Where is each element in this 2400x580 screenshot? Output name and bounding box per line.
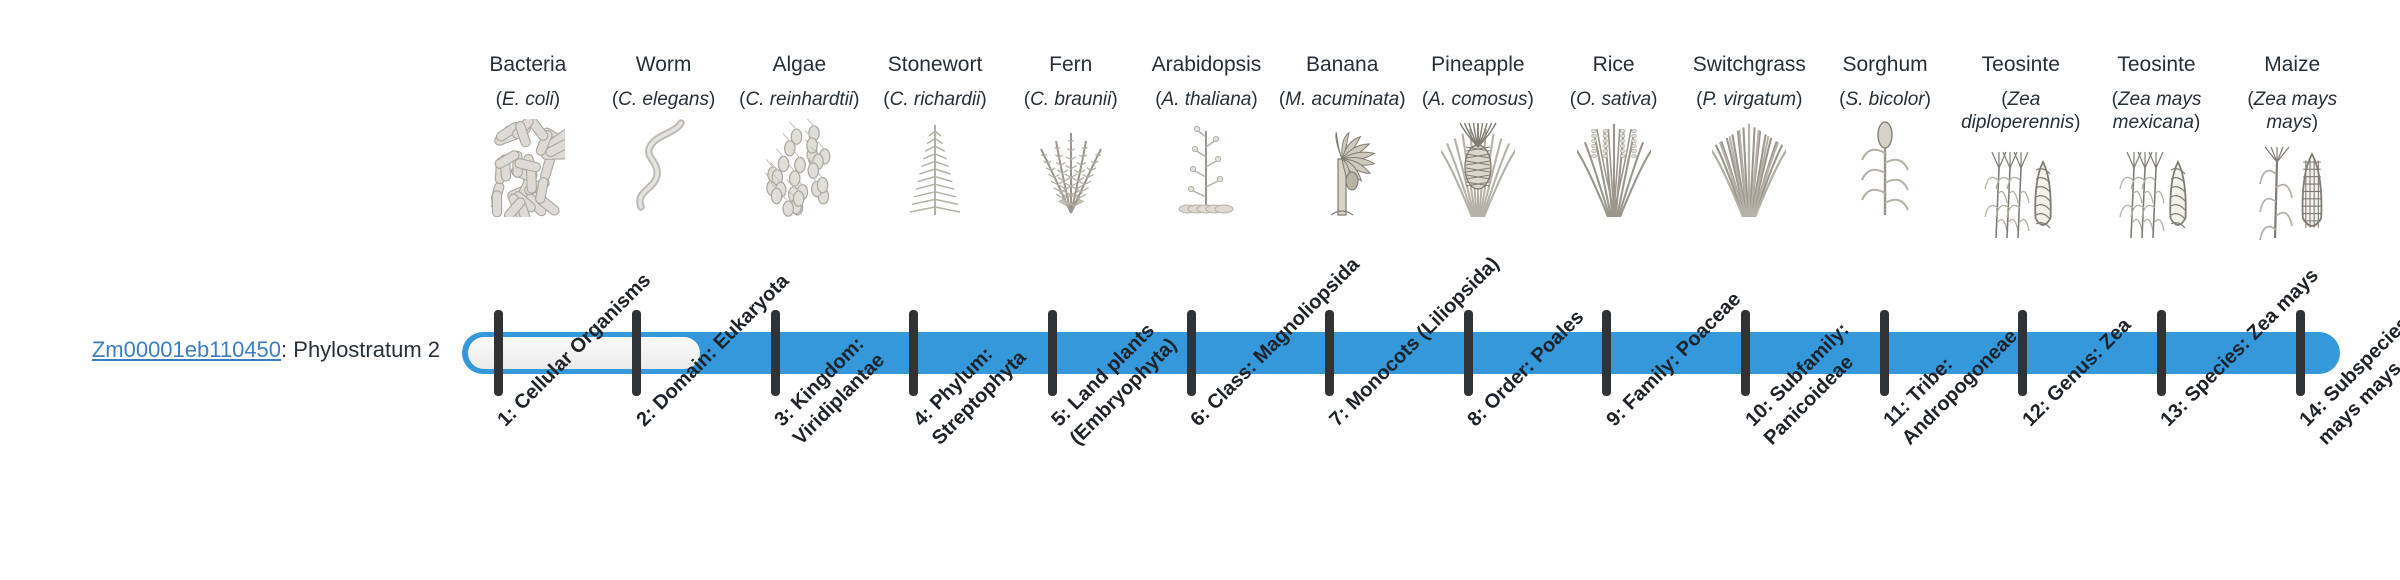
phylostratum-tick-8[interactable]: [1464, 310, 1473, 396]
species-latin-text: P. virgatum: [1703, 89, 1797, 110]
species-common-name: Arabidopsis: [1152, 52, 1262, 78]
species-column-maize-13: Maize(Zea mays mays): [2224, 52, 2360, 240]
maize-icon: [2224, 140, 2360, 240]
species-common-name: Stonewort: [888, 52, 983, 78]
species-latin-text: Zea mays mays: [2254, 89, 2337, 133]
phylostratum-tick-10[interactable]: [1741, 310, 1750, 396]
phylostratum-tick-12[interactable]: [2018, 310, 2027, 396]
species-column-fern-4: Fern(C. braunii): [1003, 52, 1139, 217]
species-column-worm-1: Worm(C. elegans): [596, 52, 732, 217]
sorghum-icon: [1817, 117, 1953, 217]
species-common-name: Bacteria: [489, 52, 566, 78]
stonewort-icon: [867, 117, 1003, 217]
species-latin-name: (P. virgatum): [1694, 88, 1804, 111]
species-header-strip: Bacteria(E. coli)Worm(C. elegans)Algae(C…: [460, 52, 2360, 302]
species-latin-name: (Zea mays mexicana): [2089, 88, 2225, 134]
phylostratum-tick-2[interactable]: [632, 310, 641, 396]
species-latin-text: E. coli: [502, 89, 554, 110]
phylostratum-tick-3[interactable]: [771, 310, 780, 396]
species-latin-name: (O. sativa): [1568, 88, 1660, 111]
species-latin-name: (Zea diploperennis): [1953, 88, 2089, 134]
species-latin-text: M. acuminata: [1285, 89, 1399, 110]
teosinte-mexicana-icon: [2089, 140, 2225, 240]
species-common-name: Rice: [1593, 52, 1635, 78]
species-latin-text: Zea mays mexicana: [2113, 89, 2202, 133]
species-column-teosinte-11: Teosinte(Zea diploperennis): [1953, 52, 2089, 240]
rice-icon: [1546, 117, 1682, 217]
species-latin-text: S. bicolor: [1845, 89, 1924, 110]
species-latin-name: (S. bicolor): [1837, 88, 1933, 111]
switchgrass-icon: [1681, 117, 1817, 217]
phylostratigraphy-figure: Zm00001eb110450: Phylostratum 2 Bacteria…: [0, 0, 2400, 580]
species-column-arabidopsis-5: Arabidopsis(A. thaliana): [1139, 52, 1275, 217]
species-column-stonewort-3: Stonewort(C. richardii): [867, 52, 1003, 217]
species-latin-text: A. thaliana: [1162, 89, 1252, 110]
arabidopsis-icon: [1139, 117, 1275, 217]
species-column-algae-2: Algae(C. reinhardtii): [731, 52, 867, 217]
species-latin-text: C. elegans: [618, 89, 709, 110]
species-common-name: Algae: [772, 52, 826, 78]
species-latin-text: C. braunii: [1030, 89, 1111, 110]
fern-icon: [1003, 117, 1139, 217]
species-latin-name: (C. richardii): [881, 88, 988, 111]
species-latin-text: O. sativa: [1576, 89, 1651, 110]
species-column-pineapple-7: Pineapple(A. comosus): [1410, 52, 1546, 217]
algae-icon: [731, 117, 867, 217]
species-column-teosinte-12: Teosinte(Zea mays mexicana): [2089, 52, 2225, 240]
species-latin-name: (C. braunii): [1022, 88, 1120, 111]
teosinte-diploperennis-icon: [1953, 140, 2089, 240]
species-common-name: Pineapple: [1431, 52, 1524, 78]
species-common-name: Teosinte: [2117, 52, 2195, 78]
phylostratum-tick-1[interactable]: [494, 310, 503, 396]
species-latin-name: (Zea mays mays): [2224, 88, 2360, 134]
species-common-name: Maize: [2264, 52, 2320, 78]
phylostratum-tick-5[interactable]: [1048, 310, 1057, 396]
species-latin-text: C. reinhardtii: [745, 89, 853, 110]
phylostratum-tick-14[interactable]: [2296, 310, 2305, 396]
worm-icon: [596, 117, 732, 217]
species-latin-name: (E. coli): [494, 88, 562, 111]
pineapple-icon: [1410, 117, 1546, 217]
species-latin-text: C. richardii: [890, 89, 981, 110]
phylostratum-tick-6[interactable]: [1187, 310, 1196, 396]
species-column-rice-8: Rice(O. sativa): [1546, 52, 1682, 217]
phylostratum-tick-7[interactable]: [1325, 310, 1334, 396]
species-column-banana-6: Banana(M. acuminata): [1274, 52, 1410, 217]
phylostratum-tick-4[interactable]: [909, 310, 918, 396]
phylostratum-tick-11[interactable]: [1880, 310, 1889, 396]
species-latin-name: (M. acuminata): [1277, 88, 1408, 111]
species-column-switchgrass-9: Switchgrass(P. virgatum): [1681, 52, 1817, 217]
phylostratum-bar-area: 1: Cellular Organisms2: Domain: Eukaryot…: [0, 310, 2400, 580]
species-latin-text: Zea diploperennis: [1961, 89, 2074, 133]
banana-icon: [1274, 117, 1410, 217]
species-column-sorghum-10: Sorghum(S. bicolor): [1817, 52, 1953, 217]
phylostratum-number: 12:: [2018, 395, 2054, 431]
species-latin-name: (C. elegans): [610, 88, 718, 111]
species-common-name: Sorghum: [1842, 52, 1927, 78]
species-column-bacteria-0: Bacteria(E. coli): [460, 52, 596, 217]
species-common-name: Banana: [1306, 52, 1378, 78]
species-latin-name: (A. comosus): [1420, 88, 1536, 111]
phylostratum-tick-13[interactable]: [2157, 310, 2166, 396]
species-common-name: Switchgrass: [1693, 52, 1806, 78]
bacteria-icon: [460, 117, 596, 217]
species-latin-text: A. comosus: [1428, 89, 1527, 110]
species-common-name: Teosinte: [1982, 52, 2060, 78]
species-common-name: Worm: [636, 52, 692, 78]
species-common-name: Fern: [1049, 52, 1092, 78]
phylostratum-tick-9[interactable]: [1602, 310, 1611, 396]
phylostratum-number: 13:: [2157, 395, 2193, 431]
species-latin-name: (A. thaliana): [1153, 88, 1259, 111]
species-latin-name: (C. reinhardtii): [737, 88, 861, 111]
